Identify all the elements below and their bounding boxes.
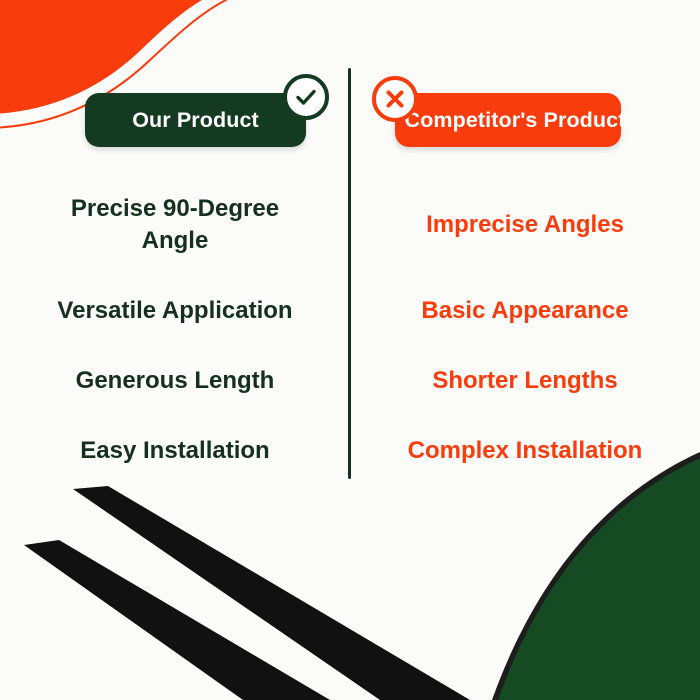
list-item: Complex Installation [350,416,700,486]
ours-badge[interactable]: Our Product [85,93,306,147]
cross-circle-icon [372,76,418,122]
list-item: Basic Appearance [350,276,700,346]
comparison-grid: Our Product Competitor's Product Pre [0,0,700,700]
theirs-badge-label: Competitor's Product [405,108,626,133]
theirs-header-cell: Competitor's Product [350,88,700,156]
ours-badge-label: Our Product [132,108,259,133]
check-circle-icon [283,74,329,120]
list-item: Imprecise Angles [350,174,700,276]
comparison-graphic: Our Product Competitor's Product Pre [0,0,700,700]
list-item: Shorter Lengths [350,346,700,416]
list-item: Generous Length [0,346,350,416]
theirs-badge[interactable]: Competitor's Product [395,93,621,147]
list-item: Versatile Application [0,276,350,346]
theirs-feature-list: Imprecise Angles Basic Appearance Shorte… [350,156,700,700]
ours-header-cell: Our Product [0,88,350,156]
ours-feature-list: Precise 90-Degree Angle Versatile Applic… [0,156,350,700]
list-item: Precise 90-Degree Angle [25,174,325,276]
list-item: Easy Installation [0,416,350,486]
